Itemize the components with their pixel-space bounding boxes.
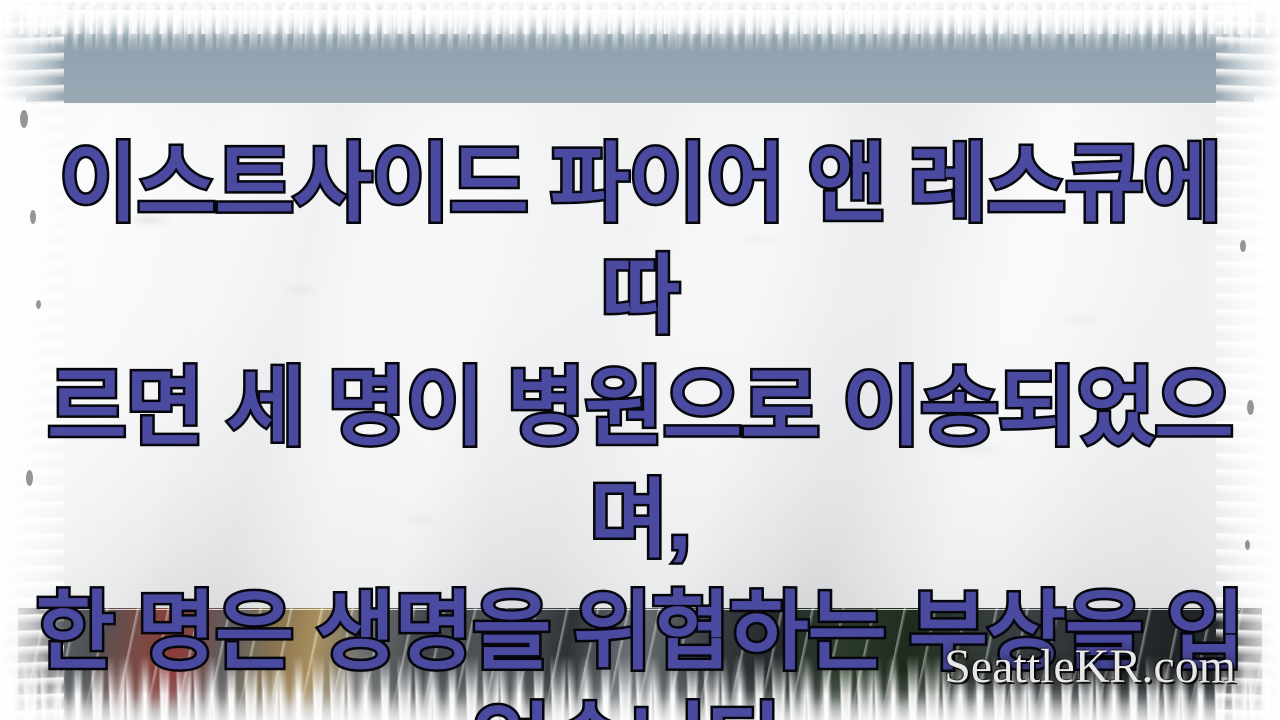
horizon-divider-line (40, 103, 1240, 104)
news-thumbnail-card: 이스트사이드 파이어 앤 레스큐에 따 르면 세 명이 병원으로 이송되었으며,… (0, 0, 1280, 720)
site-watermark: SeattleKR.com (944, 639, 1236, 694)
treeline-top-fade (26, 10, 1254, 40)
headline-text: 이스트사이드 파이어 앤 레스큐에 따 르면 세 명이 병원으로 이송되었으며,… (0, 128, 1280, 720)
